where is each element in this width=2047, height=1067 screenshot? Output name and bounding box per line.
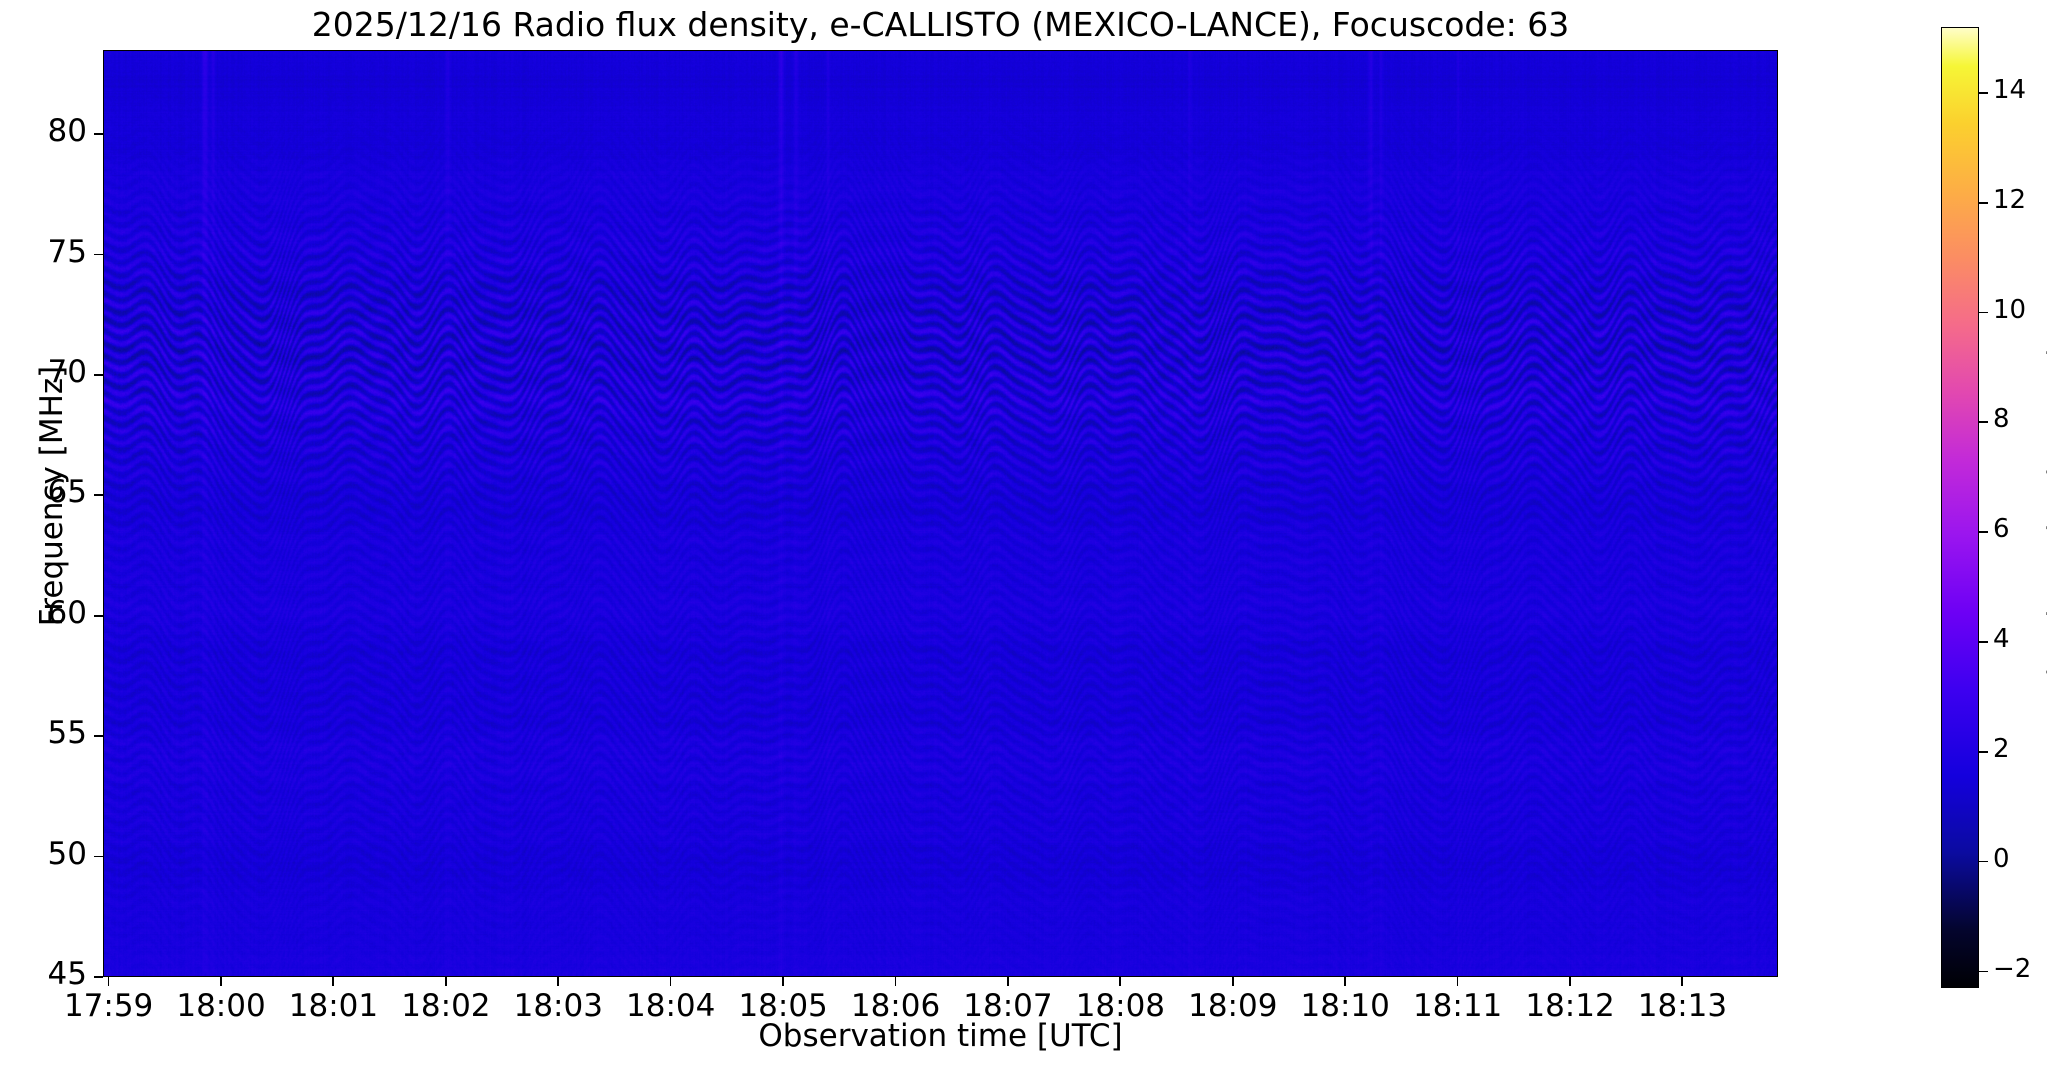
x-axis-tick-mark: [895, 977, 897, 986]
x-axis-tick-label: 18:05: [723, 988, 843, 1024]
x-axis-tick-label: 18:03: [498, 988, 618, 1024]
x-axis-tick-label: 18:02: [386, 988, 506, 1024]
y-axis-tick-label: 80: [48, 113, 87, 149]
colorbar-tick-mark: [1979, 312, 1988, 314]
colorbar-tick-label: 6: [1993, 514, 2010, 544]
colorbar[interactable]: [1941, 27, 1979, 988]
x-axis-tick-label: 18:07: [948, 988, 1068, 1024]
x-axis-tick-mark: [1344, 977, 1346, 986]
x-axis-tick-mark: [1681, 977, 1683, 986]
colorbar-tick-mark: [1979, 751, 1988, 753]
x-axis-tick-label: 18:04: [611, 988, 731, 1024]
colorbar-tick-mark: [1979, 971, 1988, 973]
colorbar-tick-mark: [1979, 641, 1988, 643]
y-axis-tick-mark: [94, 856, 103, 858]
spectrogram-plot-area[interactable]: [103, 50, 1778, 977]
colorbar-tick-mark: [1979, 421, 1988, 423]
x-axis-tick-label: 18:10: [1285, 988, 1405, 1024]
colorbar-tick-mark: [1979, 92, 1988, 94]
page-title: 2025/12/16 Radio flux density, e-CALLIST…: [103, 4, 1778, 46]
colorbar-tick-mark: [1979, 861, 1988, 863]
colorbar-tick-label: 4: [1993, 624, 2010, 654]
colorbar-tick-label: 12: [1993, 185, 2026, 215]
x-axis-tick-mark: [1457, 977, 1459, 986]
colorbar-tick-label: 10: [1993, 295, 2026, 325]
colorbar-tick-mark: [1979, 531, 1988, 533]
x-axis-tick-mark: [1569, 977, 1571, 986]
y-axis-tick-mark: [94, 133, 103, 135]
colorbar-tick-mark: [1979, 202, 1988, 204]
x-axis-tick-mark: [332, 977, 334, 986]
y-axis-tick-label: 65: [48, 474, 87, 510]
y-axis-tick-mark: [94, 976, 103, 978]
x-axis-tick-label: 18:06: [836, 988, 956, 1024]
x-axis-tick-label: 18:00: [161, 988, 281, 1024]
y-axis-tick-label: 70: [48, 354, 87, 390]
colorbar-tick-label: 2: [1993, 734, 2010, 764]
x-axis-tick-mark: [1232, 977, 1234, 986]
x-axis-tick-mark: [1007, 977, 1009, 986]
x-axis-tick-label: 17:59: [49, 988, 169, 1024]
x-axis-tick-mark: [557, 977, 559, 986]
x-axis-tick-mark: [670, 977, 672, 986]
colorbar-gradient: [1942, 28, 1978, 987]
colorbar-label: dB above background: [2042, 198, 2047, 838]
x-axis-tick-label: 18:11: [1398, 988, 1518, 1024]
y-axis-tick-label: 75: [48, 234, 87, 270]
x-axis-tick-mark: [445, 977, 447, 986]
x-axis-tick-label: 18:13: [1622, 988, 1742, 1024]
y-axis-tick-mark: [94, 254, 103, 256]
colorbar-tick-label: −2: [1993, 954, 2031, 984]
colorbar-tick-label: 8: [1993, 404, 2010, 434]
x-axis-tick-label: 18:01: [273, 988, 393, 1024]
y-axis-tick-mark: [94, 615, 103, 617]
x-axis-tick-mark: [108, 977, 110, 986]
x-axis-tick-label: 18:08: [1060, 988, 1180, 1024]
x-axis-tick-label: 18:12: [1510, 988, 1630, 1024]
x-axis-tick-label: 18:09: [1173, 988, 1293, 1024]
x-axis-tick-mark: [220, 977, 222, 986]
x-axis-tick-mark: [1119, 977, 1121, 986]
spectrogram-image: [104, 51, 1778, 977]
y-axis-tick-label: 50: [48, 836, 87, 872]
y-axis-tick-mark: [94, 374, 103, 376]
colorbar-tick-label: 0: [1993, 844, 2010, 874]
y-axis-tick-mark: [94, 735, 103, 737]
y-axis-tick-label: 45: [48, 956, 87, 992]
y-axis-tick-label: 60: [48, 595, 87, 631]
colorbar-tick-label: 14: [1993, 75, 2026, 105]
y-axis-tick-label: 55: [48, 715, 87, 751]
x-axis-tick-mark: [782, 977, 784, 986]
figure-canvas: 2025/12/16 Radio flux density, e-CALLIST…: [0, 0, 2047, 1067]
y-axis-tick-mark: [94, 494, 103, 496]
